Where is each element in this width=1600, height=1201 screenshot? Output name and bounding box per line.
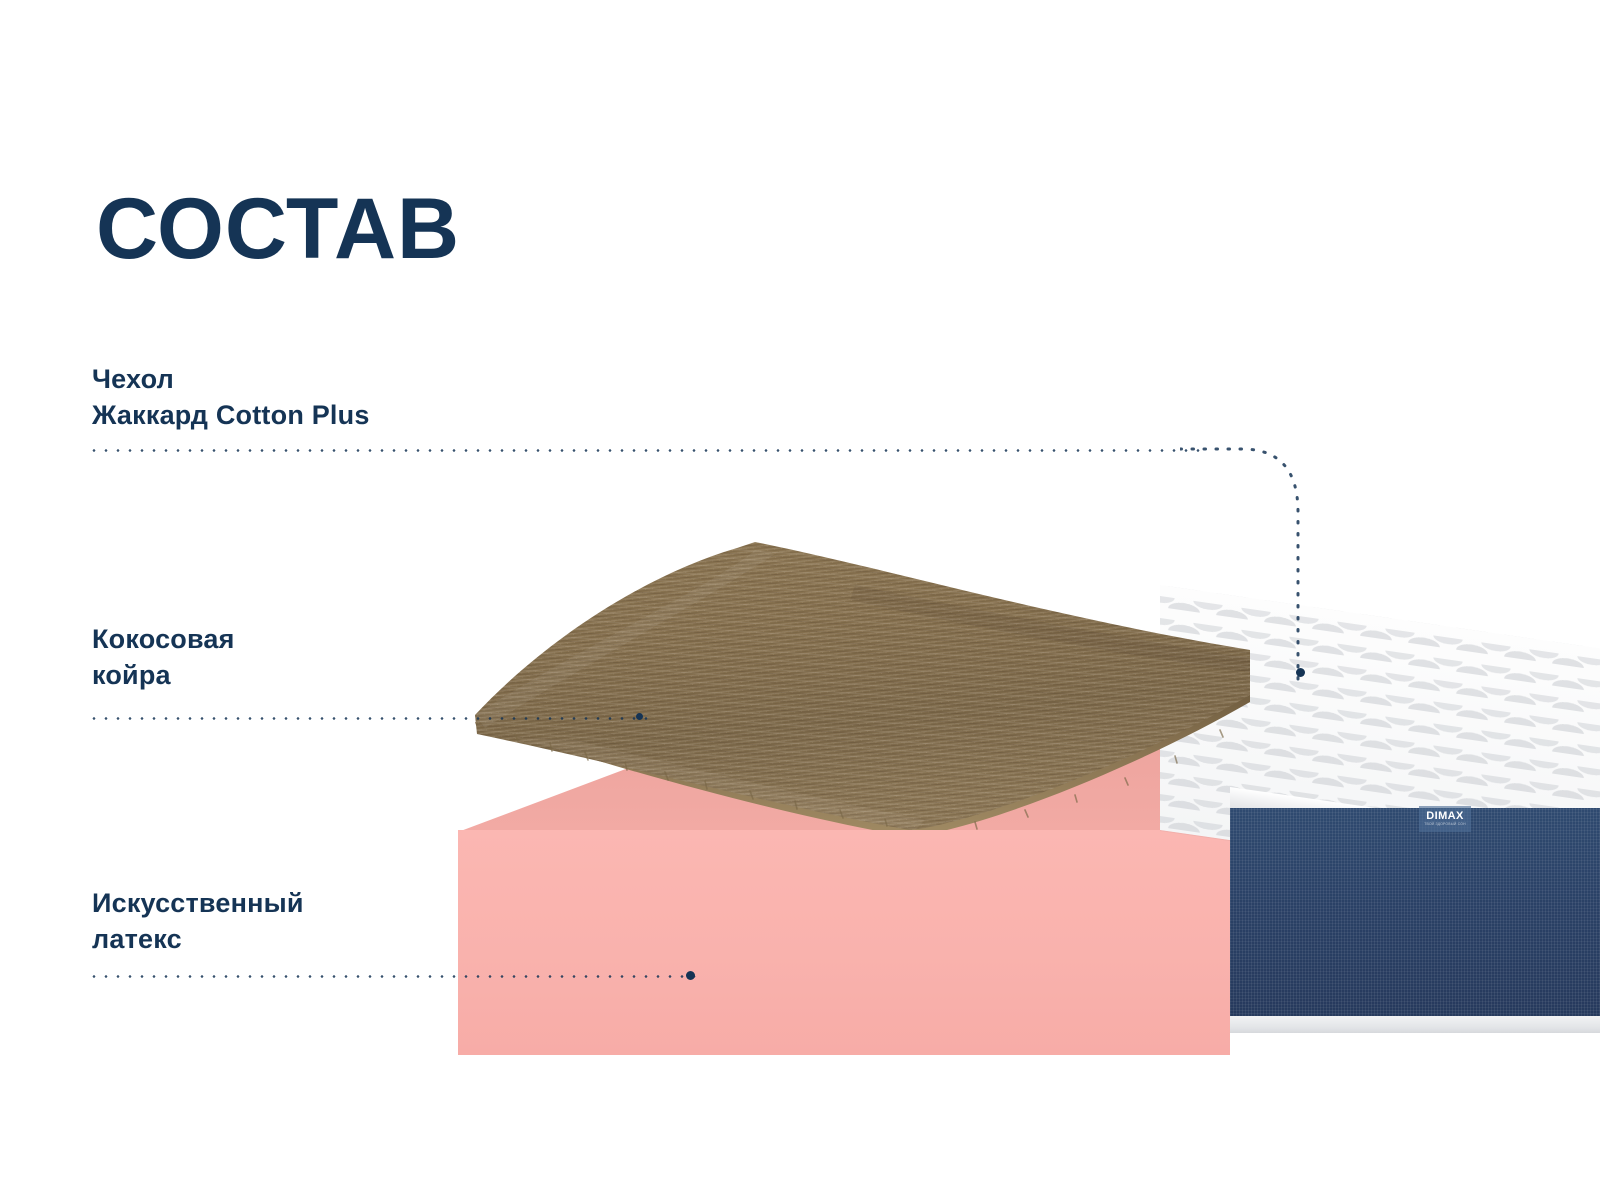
leader-endpoint-latex xyxy=(686,971,695,980)
leader-line-latex xyxy=(88,975,698,978)
label-coir: Кокосовая койра xyxy=(92,622,235,693)
coir-layer xyxy=(455,490,1255,830)
latex-layer-front-face xyxy=(458,830,1230,1055)
label-cover: Чехол Жаккард Cotton Plus xyxy=(92,362,370,433)
brand-badge: DIMAX ТВОЙ ЗДОРОВЫЙ СОН xyxy=(1419,806,1471,832)
brand-tagline: ТВОЙ ЗДОРОВЫЙ СОН xyxy=(1424,823,1466,826)
brand-name: DIMAX xyxy=(1426,811,1463,822)
leader-line-cover xyxy=(88,449,1208,452)
slide-canvas: СОСТАВ DIMAX ТВОЙ ЗДОРОВЫЙ СОН xyxy=(0,0,1600,1201)
coir-fiber-texture xyxy=(455,490,1255,830)
mattress-illustration: DIMAX ТВОЙ ЗДОРОВЫЙ СОН xyxy=(0,430,1600,1130)
cover-piping-bottom xyxy=(1230,1016,1600,1033)
label-latex: Искусственный латекс xyxy=(92,886,304,957)
mattress-side-panel xyxy=(1230,808,1600,1023)
leader-line-coir xyxy=(88,717,648,720)
leader-curve-cover xyxy=(1180,430,1340,690)
leader-endpoint-cover xyxy=(1296,668,1305,677)
leader-endpoint-coir xyxy=(636,713,643,720)
page-title: СОСТАВ xyxy=(96,186,460,272)
